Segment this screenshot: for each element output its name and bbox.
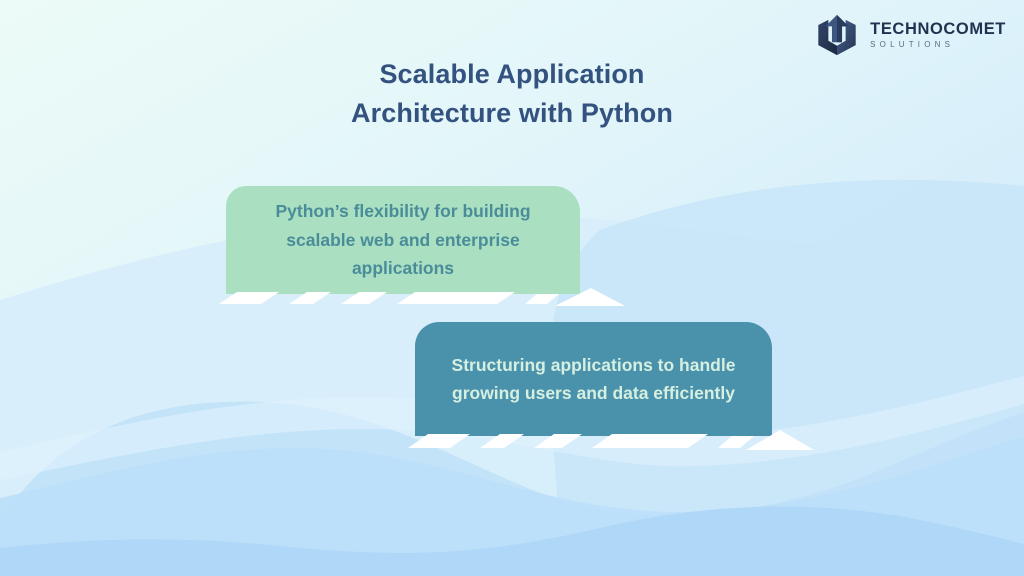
page-title-line-1: Scalable Application <box>0 55 1024 94</box>
cube-arrow-up-icon <box>814 12 860 58</box>
brand-logo: TECHNOCOMET SOLUTIONS <box>814 12 1006 58</box>
slide-canvas: TECHNOCOMET SOLUTIONS Scalable Applicati… <box>0 0 1024 576</box>
content-card-python-flexibility: Python’s flexibility for building scalab… <box>226 186 580 294</box>
page-title: Scalable Application Architecture with P… <box>0 55 1024 133</box>
dashed-arrow-right-icon-1 <box>219 288 625 306</box>
brand-tagline: SOLUTIONS <box>870 41 1006 49</box>
dashed-arrow-right-icon-2 <box>408 430 814 450</box>
brand-logo-text: TECHNOCOMET SOLUTIONS <box>870 21 1006 50</box>
brand-name: TECHNOCOMET <box>870 21 1006 38</box>
content-card-structuring-applications: Structuring applications to handle growi… <box>415 322 772 436</box>
page-title-line-2: Architecture with Python <box>0 94 1024 133</box>
